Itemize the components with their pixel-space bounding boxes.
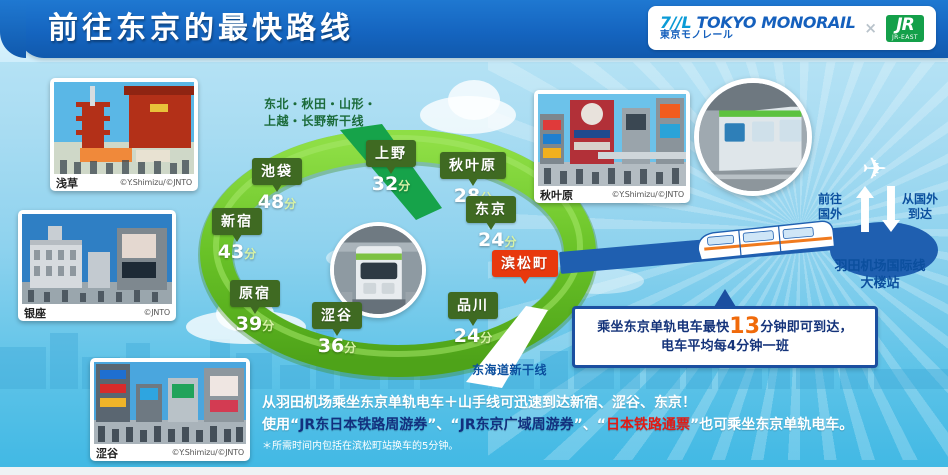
tokaido-shinkansen-label: 东海道新干线 [472, 362, 547, 379]
photo-label: 秋叶原 [540, 187, 573, 203]
jr-mark: JR [896, 15, 913, 35]
station-ueno[interactable]: 上野 32分 [366, 140, 416, 195]
station-shinjuku[interactable]: 新宿 43分 [212, 208, 262, 263]
ginza-photo [22, 214, 172, 304]
travel-time-callout: 乘坐东京单轨电车最快13分钟即可到达， 电车平均每4分钟一班 [572, 306, 878, 368]
pass-name-japan-rail-pass: 日本铁路通票 [606, 417, 690, 433]
station-ueno-tag: 上野 [366, 140, 416, 167]
tokyo-monorail-logo: 7//L TOKYO MONORAIL 東京モノレール [660, 15, 855, 42]
station-shibuya-tag: 涩谷 [312, 302, 362, 329]
photo-card-asakusa: 浅草 ©Y.Shimizu/©JNTO [50, 78, 198, 191]
station-ikebukuro-tag: 池袋 [252, 158, 302, 185]
page-title: 前往东京的最快路线 [48, 8, 354, 50]
callout-minutes: 13 [729, 314, 760, 339]
photo-card-shibuya: 涩谷 ©Y.Shimizu/©JNTO [90, 358, 250, 461]
station-shinagawa-time: 24分 [448, 325, 498, 347]
footer-note: ＊所需时间内包括在滨松町站换车的5分钟。 [262, 438, 948, 456]
footer-line-1: 从羽田机场乘坐东京单轨电车＋山手线可迅速到达新宿、涩谷、东京！ [262, 392, 948, 414]
footer-line-2: 使用“JR东日本铁路周游券”、“JR东京广域周游券”、“日本铁路通票”也可乘坐东… [262, 414, 948, 436]
callout-line-2: 电车平均每4分钟一班 [581, 337, 869, 356]
photo-credit: ©Y.Shimizu/©JNTO [120, 178, 193, 187]
photo-credit: ©Y.Shimizu/©JNTO [612, 190, 685, 199]
photo-credit: ©JNTO [143, 308, 170, 317]
jr-east-sub: JR-EAST [892, 35, 918, 41]
photo-card-ginza: 银座 ©JNTO [18, 210, 176, 321]
pass-name-jr-east: JR东日本铁路周游券 [299, 417, 427, 433]
jr-east-logo: JR JR-EAST [886, 15, 924, 42]
station-shibuya-time: 36分 [312, 335, 362, 357]
logo-separator-x: × [864, 19, 877, 37]
station-ueno-time: 32分 [366, 173, 416, 195]
station-shinagawa-tag: 品川 [448, 292, 498, 319]
station-shinjuku-time: 43分 [212, 241, 262, 263]
station-ikebukuro[interactable]: 池袋 48分 [252, 158, 302, 213]
photo-label: 银座 [24, 305, 46, 321]
station-hamamatsucho[interactable]: 滨松町 [492, 250, 558, 277]
ginza-caption: 银座 ©JNTO [22, 304, 172, 321]
shibuya-caption: 涩谷 ©Y.Shimizu/©JNTO [94, 444, 246, 461]
callout-line-1: 乘坐东京单轨电车最快13分钟即可到达， [581, 317, 869, 337]
footer-description: 从羽田机场乘坐东京单轨电车＋山手线可迅速到达新宿、涩谷、东京！ 使用“JR东日本… [262, 392, 948, 456]
photo-credit: ©Y.Shimizu/©JNTO [172, 448, 245, 457]
station-tokyo[interactable]: 东京 24分 [466, 196, 516, 251]
station-shibuya[interactable]: 涩谷 36分 [312, 302, 362, 357]
arrive-from-abroad-label: 从国外 到达 [902, 192, 938, 222]
asakusa-caption: 浅草 ©Y.Shimizu/©JNTO [54, 174, 194, 191]
station-harajuku-tag: 原宿 [230, 280, 280, 307]
depart-abroad-label: 前往 国外 [818, 192, 842, 222]
photo-card-akihabara: 秋叶原 ©Y.Shimizu/©JNTO [534, 90, 690, 203]
infographic-poster: 前往东京的最快路线 7//L TOKYO MONORAIL 東京モノレール × … [0, 0, 948, 475]
station-harajuku[interactable]: 原宿 39分 [230, 280, 280, 335]
station-shinagawa[interactable]: 品川 24分 [448, 292, 498, 347]
asakusa-photo [54, 82, 194, 174]
pass-name-tokyo-wide: JR东京广域周游券 [460, 417, 574, 433]
airport-station-name: 羽田机场国际线 大楼站 [812, 258, 948, 292]
shibuya-photo [94, 362, 246, 444]
station-hamamatsucho-tag: 滨松町 [492, 250, 558, 277]
photo-label: 浅草 [56, 175, 78, 191]
station-harajuku-time: 39分 [230, 313, 280, 335]
monorail-logo-jp: 東京モノレール [660, 31, 855, 41]
tohoku-shinkansen-label: 东北・秋田・山形・ 上越・长野新干线 [264, 96, 377, 130]
station-tokyo-tag: 东京 [466, 196, 516, 223]
monorail-logo-en: TOKYO MONORAIL [697, 13, 856, 32]
monorail-train-photo [694, 78, 812, 196]
brand-logo-group: 7//L TOKYO MONORAIL 東京モノレール × JR JR-EAST [648, 6, 936, 50]
station-akihabara-tag: 秋叶原 [440, 152, 506, 179]
footer-strip [0, 467, 948, 475]
akihabara-caption: 秋叶原 ©Y.Shimizu/©JNTO [538, 186, 686, 203]
photo-label: 涩谷 [96, 445, 118, 461]
akihabara-photo [538, 94, 686, 186]
station-tokyo-time: 24分 [478, 229, 516, 251]
airplane-icon: ✈ [862, 152, 887, 187]
station-shinjuku-tag: 新宿 [212, 208, 262, 235]
